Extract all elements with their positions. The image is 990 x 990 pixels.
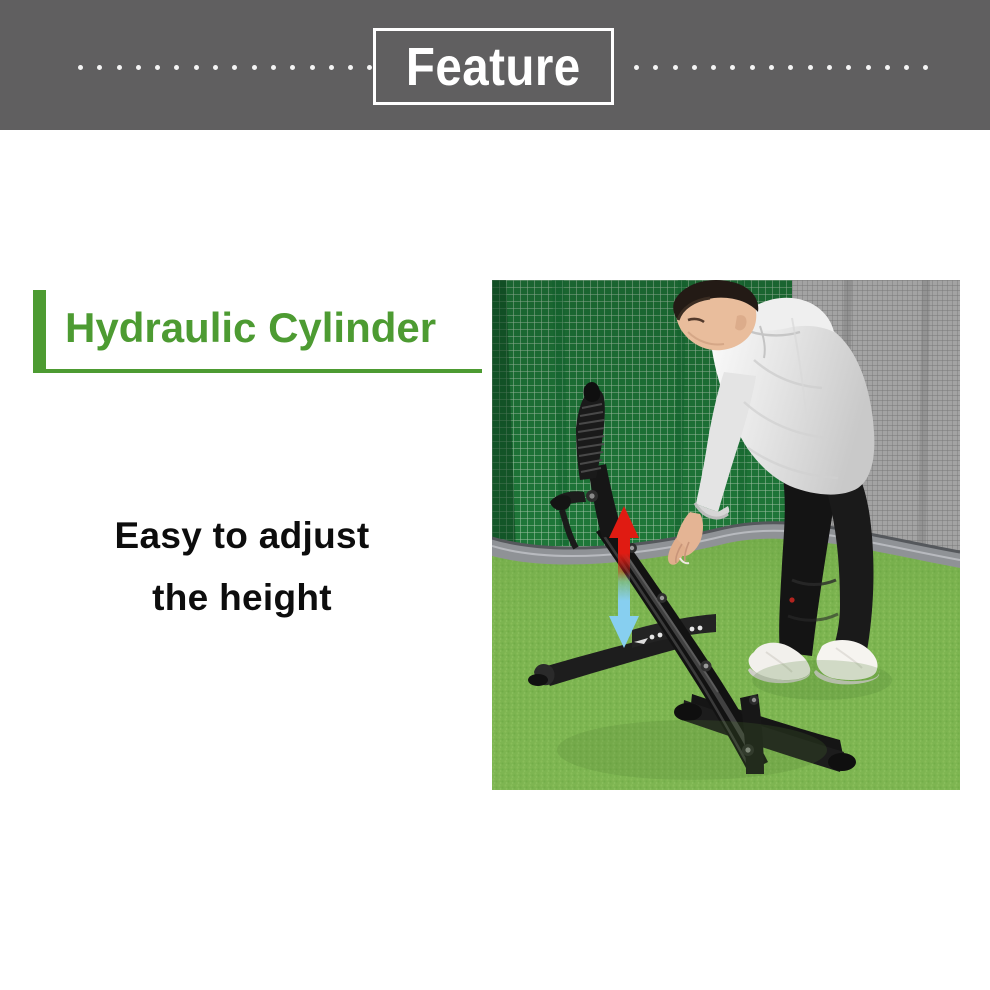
rule-dot [117, 65, 122, 70]
rule-dot [232, 65, 237, 70]
subtitle-line-2: the height [42, 567, 442, 629]
rule-dot [348, 65, 353, 70]
feature-title-box: Feature [373, 28, 614, 105]
rule-dot [711, 65, 716, 70]
rule-dot [653, 65, 658, 70]
product-photo [492, 280, 960, 790]
rule-dot [750, 65, 755, 70]
rule-dot [846, 65, 851, 70]
rule-dot [692, 65, 697, 70]
rule-dot [290, 65, 295, 70]
header-dotted-rule-left [78, 64, 372, 70]
product-feature-page: Feature Hydraulic Cylinder Easy to [0, 0, 990, 990]
rule-dot [329, 65, 334, 70]
rule-dot [866, 65, 871, 70]
rule-dot [252, 65, 257, 70]
rule-dot [213, 65, 218, 70]
rule-dot [271, 65, 276, 70]
rule-dot [367, 65, 372, 70]
headline-accent-bar [33, 290, 46, 370]
rule-dot [673, 65, 678, 70]
rule-dot [174, 65, 179, 70]
header-banner: Feature [0, 0, 990, 130]
header-dotted-rule-right [634, 64, 928, 70]
rule-dot [730, 65, 735, 70]
rule-dot [136, 65, 141, 70]
rule-dot [194, 65, 199, 70]
page-title: Feature [406, 40, 581, 94]
feature-subtitle: Easy to adjust the height [42, 505, 442, 629]
rule-dot [78, 65, 83, 70]
rule-dot [634, 65, 639, 70]
feature-headline: Hydraulic Cylinder [33, 290, 483, 374]
photo-illustration [492, 280, 960, 790]
rule-dot [769, 65, 774, 70]
rule-dot [97, 65, 102, 70]
subtitle-line-1: Easy to adjust [42, 505, 442, 567]
rule-dot [788, 65, 793, 70]
rule-dot [923, 65, 928, 70]
rule-dot [155, 65, 160, 70]
rule-dot [885, 65, 890, 70]
rule-dot [904, 65, 909, 70]
headline-label: Hydraulic Cylinder [65, 292, 436, 364]
rule-dot [310, 65, 315, 70]
rule-dot [808, 65, 813, 70]
headline-underline [33, 369, 482, 373]
rule-dot [827, 65, 832, 70]
